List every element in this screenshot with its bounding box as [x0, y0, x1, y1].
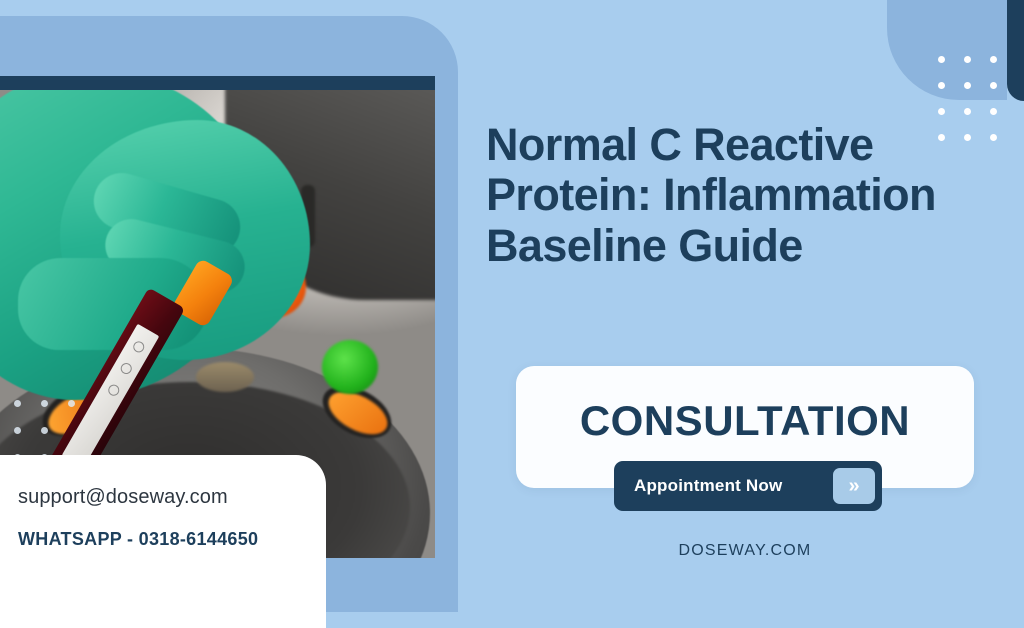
contact-card: support@doseway.com WHATSAPP - 0318-6144…: [0, 455, 326, 628]
whatsapp-number[interactable]: WHATSAPP - 0318-6144650: [18, 529, 326, 550]
page-title: Normal C Reactive Protein: Inflammation …: [486, 120, 1024, 271]
appointment-now-button[interactable]: Appointment Now »: [614, 461, 882, 511]
double-chevron-right-icon: »: [833, 468, 875, 504]
label-symbol-icon: [119, 361, 134, 376]
photo-top-accent-bar: [0, 76, 435, 90]
banner-root: support@doseway.com WHATSAPP - 0318-6144…: [0, 0, 1024, 628]
rotor-hub-shape: [196, 362, 254, 392]
site-url: DOSEWAY.COM: [486, 542, 1004, 560]
support-email[interactable]: support@doseway.com: [18, 485, 326, 509]
label-symbol-icon: [106, 383, 121, 398]
consultation-title: CONSULTATION: [580, 400, 910, 442]
appointment-button-label: Appointment Now: [634, 476, 833, 496]
right-content-column: Normal C Reactive Protein: Inflammation …: [486, 0, 1024, 628]
label-symbol-icon: [131, 339, 146, 354]
tube-cap-green: [322, 340, 378, 394]
